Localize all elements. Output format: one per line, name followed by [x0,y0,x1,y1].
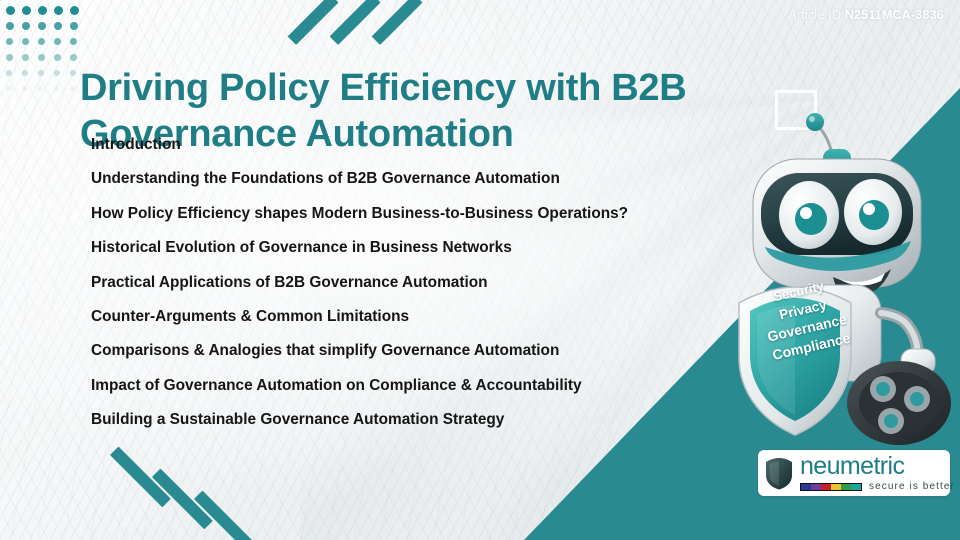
slide-canvas: Article ID N2511MCA-3836 Driving Policy … [0,0,960,540]
dot-grid-dot [54,6,63,15]
toc-item[interactable]: Comparisons & Analogies that simplify Go… [91,342,791,360]
neumetric-logo: neumetric secure is better [758,450,950,496]
logo-color-bar-segment [801,484,811,490]
dot-grid-dot [6,6,15,15]
diagonal-stripes-bottom [110,455,260,540]
dot-grid-dot [6,86,11,91]
dot-grid-dot [6,38,13,45]
dot-grid-dot [22,22,30,30]
dot-grid-dot [54,38,61,45]
article-id: Article ID N2511MCA-3836 [788,8,944,22]
dot-grid-dot [22,6,31,15]
logo-color-bar-segment [841,484,851,490]
diagonal-stripe [372,0,423,45]
logo-wordmark: neumetric [800,454,955,478]
toc-item[interactable]: Counter-Arguments & Common Limitations [91,308,791,326]
toc-item[interactable]: Understanding the Foundations of B2B Gov… [91,170,791,188]
logo-color-bar [800,483,862,491]
dot-grid-dot [38,38,45,45]
dot-grid-dot [6,70,12,76]
dot-grid-dot [70,70,76,76]
toc-item[interactable]: Impact of Governance Automation on Compl… [91,377,791,395]
dot-grid-dot [22,86,27,91]
toc-item[interactable]: Building a Sustainable Governance Automa… [91,411,791,429]
robot-svg [705,105,960,445]
dot-grid-dot [38,54,45,61]
dot-grid-dot [70,22,78,30]
logo-text-block: neumetric secure is better [800,454,955,492]
dot-grid-dot [70,86,75,91]
dot-grid-dot [6,54,13,61]
dot-grid-dot [22,70,28,76]
toc-item[interactable]: Practical Applications of B2B Governance… [91,274,791,292]
diagonal-stripes-top [330,0,450,40]
dot-grid-dot [70,38,77,45]
logo-color-bar-segment [851,484,861,490]
logo-color-bar-segment [831,484,841,490]
article-id-label: Article ID [788,8,841,22]
dot-grid-dot [70,6,79,15]
dot-grid-dot [38,86,43,91]
dot-grid-dot [38,6,47,15]
logo-subline: secure is better [800,481,955,492]
article-id-value: N2511MCA-3836 [845,8,944,22]
logo-color-bar-segment [811,484,821,490]
dot-grid-dot [38,22,46,30]
dot-grid-dot [38,70,44,76]
robot-mascot-illustration [705,105,960,445]
toc-item[interactable]: Historical Evolution of Governance in Bu… [91,239,791,257]
toc-item[interactable]: Introduction [91,136,791,154]
dot-grid-dot [22,54,29,61]
dot-grid-dot [54,86,59,91]
dot-grid-dot [54,70,60,76]
dot-grid-dot [54,54,61,61]
toc-item[interactable]: How Policy Efficiency shapes Modern Busi… [91,205,791,223]
logo-shield-icon [765,457,793,490]
dot-grid-dot [54,22,62,30]
dot-grid-dot [22,38,29,45]
logo-tagline: secure is better [869,481,955,492]
logo-color-bar-segment [821,484,831,490]
table-of-contents: IntroductionUnderstanding the Foundation… [91,136,791,446]
dot-grid-dot [70,54,77,61]
dot-grid-dot [6,22,14,30]
